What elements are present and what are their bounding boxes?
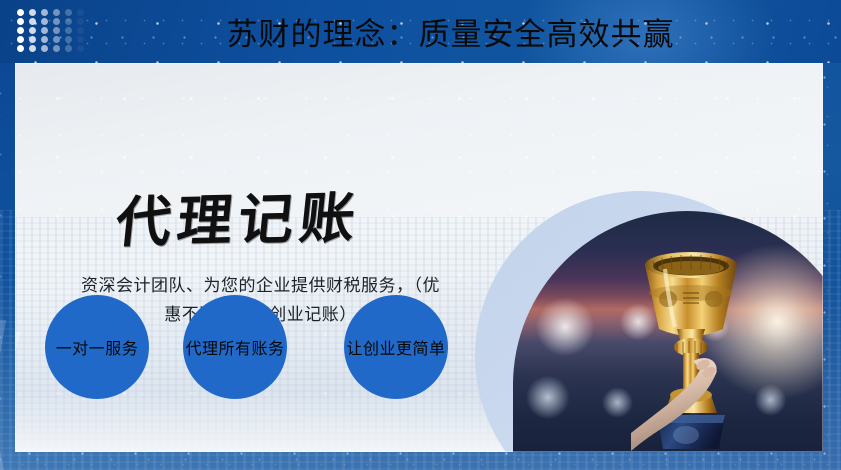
feature-circle-1[interactable]: 一对一服务 bbox=[45, 295, 149, 399]
feature-circle-3-label: 让创业更简单 bbox=[346, 335, 445, 359]
slide-canvas: 苏财的理念：质量安全高效共赢 bbox=[0, 0, 841, 470]
header-bar: 苏财的理念：质量安全高效共赢 bbox=[0, 0, 841, 63]
page-title: 苏财的理念：质量安全高效共赢 bbox=[0, 0, 841, 63]
feature-circles: 一对一服务 代理所有账务 让创业更简单 bbox=[15, 63, 823, 452]
content-card: 代理记账 资深会计团队、为您的企业提供财税服务，（优惠不断，轻松创业记账） 一对… bbox=[15, 63, 823, 452]
feature-circle-2[interactable]: 代理所有账务 bbox=[183, 295, 287, 399]
feature-circle-2-label: 代理所有账务 bbox=[185, 335, 284, 359]
feature-circle-1-label: 一对一服务 bbox=[56, 335, 139, 359]
feature-circle-3[interactable]: 让创业更简单 bbox=[344, 295, 448, 399]
